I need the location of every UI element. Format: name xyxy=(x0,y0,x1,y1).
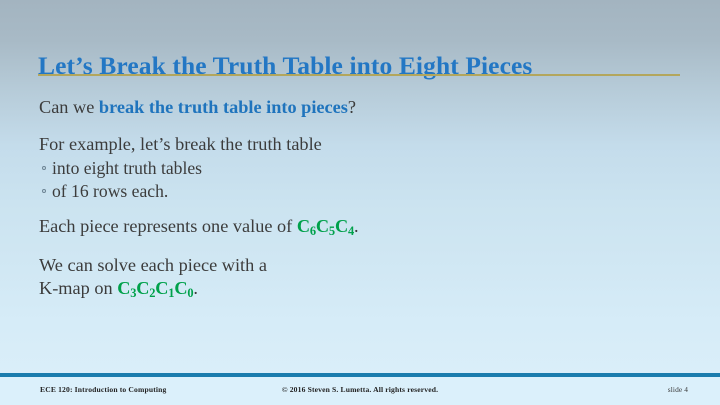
variable-c2: C2 xyxy=(136,278,155,298)
spacer xyxy=(39,247,679,254)
title-divider xyxy=(38,74,680,76)
variable-subscript: 0 xyxy=(187,286,193,300)
variable-letter: C xyxy=(335,216,348,236)
footer-copyright-label: © 2016 Steven S. Lumetta. All rights res… xyxy=(0,385,720,394)
variable-letter: C xyxy=(316,216,329,236)
question-prefix: Can we xyxy=(39,97,99,117)
variable-subscript: 3 xyxy=(130,286,136,300)
list-item: into eight truth tables xyxy=(39,157,679,180)
body-line-example: For example, let’s break the truth table xyxy=(39,133,679,157)
hollow-circle-bullet-icon xyxy=(42,189,46,193)
variable-letter: C xyxy=(117,278,130,298)
list-item: of 16 rows each. xyxy=(39,180,679,203)
list-item-label: of 16 rows each. xyxy=(52,181,168,201)
variable-c0: C0 xyxy=(174,278,193,298)
variable-subscript: 4 xyxy=(348,224,354,238)
spacer xyxy=(39,204,679,215)
variable-c5: C5 xyxy=(316,216,335,236)
body-line-each-piece: Each piece represents one value of C6C5C… xyxy=(39,215,679,241)
list-item-label: into eight truth tables xyxy=(52,158,202,178)
kmap-prefix: K-map on xyxy=(39,278,117,298)
variable-subscript: 5 xyxy=(329,224,335,238)
footer-slide-number: slide 4 xyxy=(668,385,688,394)
variable-subscript: 6 xyxy=(310,224,316,238)
variable-subscript: 2 xyxy=(149,286,155,300)
variable-c6: C6 xyxy=(297,216,316,236)
slide-footer: ECE 120: Introduction to Computing © 201… xyxy=(0,377,720,405)
slide-body: Can we break the truth table into pieces… xyxy=(39,96,679,309)
body-line-solve: We can solve each piece with a xyxy=(39,254,679,278)
variable-c3: C3 xyxy=(117,278,136,298)
kmap-suffix: . xyxy=(193,278,198,298)
variable-group-c654: C6C5C4 xyxy=(297,216,354,236)
variable-c1: C1 xyxy=(155,278,174,298)
body-line-kmap: K-map on C3C2C1C0. xyxy=(39,277,679,303)
variable-letter: C xyxy=(136,278,149,298)
variable-group-c3210: C3C2C1C0 xyxy=(117,278,193,298)
variable-letter: C xyxy=(297,216,310,236)
variable-c4: C4 xyxy=(335,216,354,236)
question-suffix: ? xyxy=(348,97,356,117)
spacer xyxy=(39,126,679,133)
slide-canvas: Let’s Break the Truth Table into Eight P… xyxy=(0,0,720,405)
page-title: Let’s Break the Truth Table into Eight P… xyxy=(38,50,688,82)
body-line-question: Can we break the truth table into pieces… xyxy=(39,96,679,120)
variable-letter: C xyxy=(155,278,168,298)
each-piece-prefix: Each piece represents one value of xyxy=(39,216,297,236)
question-emphasis: break the truth table into pieces xyxy=(99,97,348,117)
variable-subscript: 1 xyxy=(168,286,174,300)
hollow-circle-bullet-icon xyxy=(42,166,46,170)
variable-letter: C xyxy=(174,278,187,298)
each-piece-suffix: . xyxy=(354,216,359,236)
